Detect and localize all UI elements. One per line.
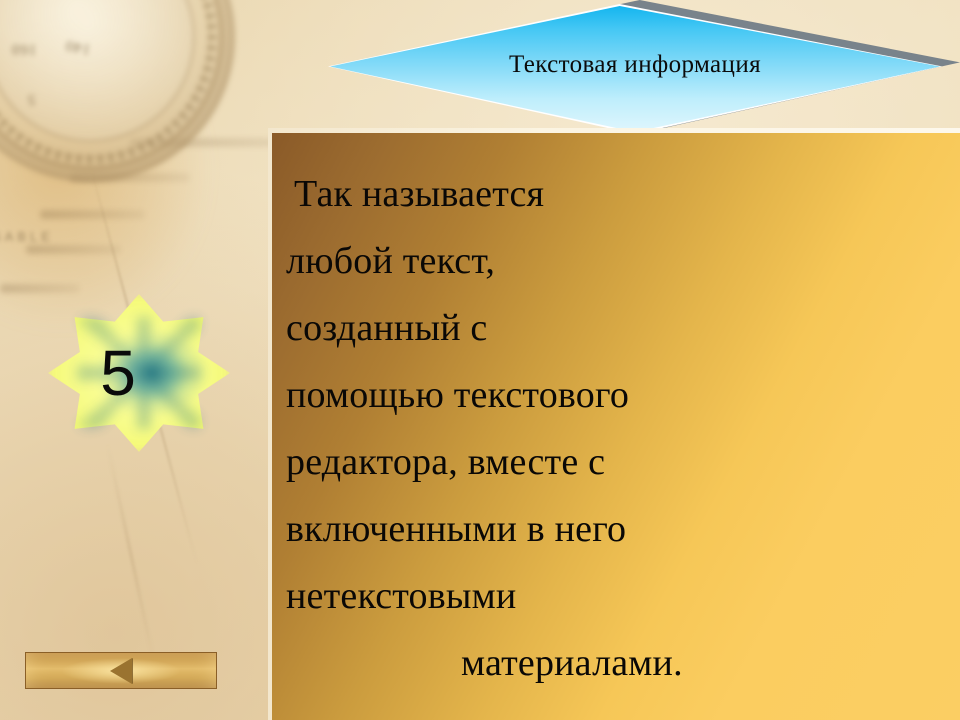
- map-label-text: SABLE: [0, 229, 54, 244]
- left-triangle-icon: [110, 658, 132, 684]
- page-title: Текстовая информация: [509, 51, 761, 79]
- body-line: любой текст,: [286, 228, 950, 295]
- body-line: помощью текстового: [286, 362, 950, 429]
- body-line: Так называется: [286, 161, 950, 228]
- body-line: нетекстовыми: [286, 563, 950, 630]
- compass-number-160: 160: [11, 40, 37, 58]
- body-line: созданный с: [286, 295, 950, 362]
- compass-bearing-numbers: 160 140 5: [0, 0, 235, 182]
- body-text-block: Так называется любой текст, созданный с …: [286, 161, 950, 697]
- slide-canvas: SABLE 160 140 5 Текстовая информация Так…: [0, 0, 960, 720]
- back-button[interactable]: [25, 652, 217, 689]
- body-line: материалами.: [286, 630, 950, 697]
- compass-icon: 160 140 5: [0, 0, 235, 182]
- slide-number: 5: [48, 294, 230, 452]
- title-banner: Текстовая информация: [320, 0, 960, 140]
- body-line: редактора, вместе с: [286, 429, 950, 496]
- background-map-label: SABLE: [0, 228, 102, 244]
- body-line: включенными в него: [286, 496, 950, 563]
- title-banner-face: Текстовая информация: [330, 6, 940, 132]
- star-number-badge: 5: [48, 294, 230, 452]
- compass-number-140: 140: [64, 36, 92, 58]
- content-panel: Так называется любой текст, созданный с …: [272, 133, 960, 720]
- compass-number-5: 5: [27, 90, 36, 107]
